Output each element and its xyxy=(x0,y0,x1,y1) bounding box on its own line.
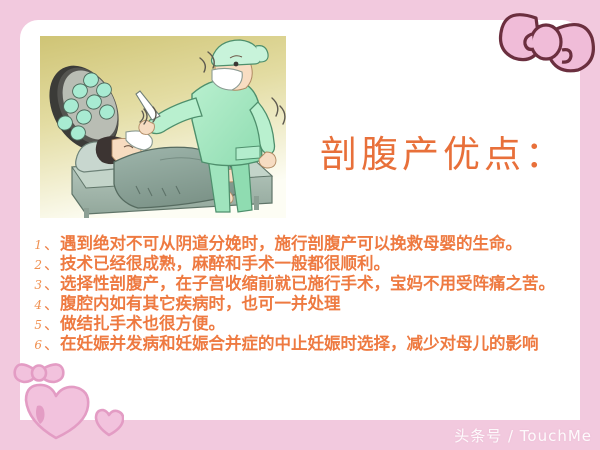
list-item-separator: 、 xyxy=(42,313,60,334)
list-item: 3 、 选择性剖腹产，在子宫收缩前就已施行手术，宝妈不用受阵痛之苦。 xyxy=(28,270,580,290)
list-item-number: 4 xyxy=(28,298,42,312)
content-card: 剖腹产优点： 1 、 遇到绝对不可从阴道分娩时，施行剖腹产可以挽救母婴的生命。 … xyxy=(20,20,580,420)
list-item-separator: 、 xyxy=(42,253,60,274)
list-item-separator: 、 xyxy=(42,333,60,354)
list-item-number: 3 xyxy=(28,278,42,292)
list-item-text: 在妊娠并发病和妊娠合并症的中止妊娠时选择，减少对母儿的影响 xyxy=(60,330,539,354)
list-item-separator: 、 xyxy=(42,273,60,294)
list-item-number: 2 xyxy=(28,258,42,272)
page-title: 剖腹产优点： xyxy=(320,132,580,178)
slide-canvas: 剖腹产优点： 1 、 遇到绝对不可从阴道分娩时，施行剖腹产可以挽救母婴的生命。 … xyxy=(0,0,600,450)
list-item-number: 5 xyxy=(28,318,42,332)
surgery-illustration xyxy=(40,36,286,218)
benefits-list: 1 、 遇到绝对不可从阴道分娩时，施行剖腹产可以挽救母婴的生命。 2 、 技术已… xyxy=(28,230,580,350)
list-item-number: 6 xyxy=(28,338,42,352)
list-item: 6 、 在妊娠并发病和妊娠合并症的中止妊娠时选择，减少对母儿的影响 xyxy=(28,330,580,350)
list-item-separator: 、 xyxy=(42,233,60,254)
list-item-number: 1 xyxy=(28,238,42,252)
list-item: 1 、 遇到绝对不可从阴道分娩时，施行剖腹产可以挽救母婴的生命。 xyxy=(28,230,580,250)
watermark-label: 头条号 / TouchMe xyxy=(454,425,592,446)
list-item-separator: 、 xyxy=(42,293,60,314)
